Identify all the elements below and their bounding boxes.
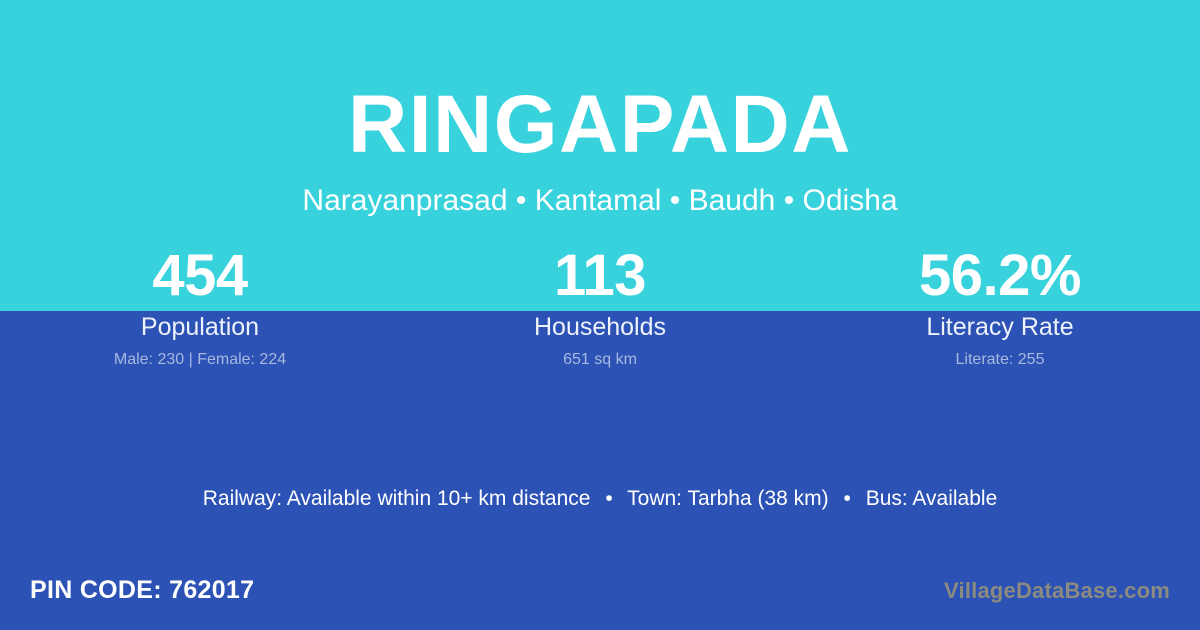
info-town: Town: Tarbha (38 km) bbox=[627, 487, 829, 510]
connectivity-info: Railway: Available within 10+ km distanc… bbox=[0, 485, 1200, 512]
site-brand: VillageDataBase.com bbox=[944, 577, 1170, 605]
breadcrumb: Narayanprasad • Kantamal • Baudh • Odish… bbox=[0, 183, 1200, 219]
info-bus: Bus: Available bbox=[866, 487, 998, 510]
page-title: RINGAPADA bbox=[0, 84, 1200, 166]
stat-value-population: 454 bbox=[0, 246, 400, 307]
stat-card-households: 113 Households 651 sq km bbox=[400, 246, 800, 369]
stat-label-households: Households bbox=[400, 313, 800, 342]
stat-value-households: 113 bbox=[400, 246, 800, 307]
info-separator-icon: • bbox=[835, 487, 860, 510]
info-separator-icon: • bbox=[596, 487, 621, 510]
pin-code: PIN CODE: 762017 bbox=[30, 575, 254, 606]
footer: PIN CODE: 762017 VillageDataBase.com bbox=[0, 575, 1200, 615]
stat-sub-population: Male: 230 | Female: 224 bbox=[0, 351, 400, 369]
stat-sub-households: 651 sq km bbox=[400, 351, 800, 369]
stat-label-literacy-rate: Literacy Rate bbox=[800, 313, 1200, 342]
stat-label-population: Population bbox=[0, 313, 400, 342]
stat-value-literacy-rate: 56.2% bbox=[800, 246, 1200, 307]
info-railway: Railway: Available within 10+ km distanc… bbox=[203, 487, 591, 510]
stat-card-literacy-rate: 56.2% Literacy Rate Literate: 255 bbox=[800, 246, 1200, 369]
stats-row: 454 Population Male: 230 | Female: 224 1… bbox=[0, 246, 1200, 369]
stat-sub-literacy-rate: Literate: 255 bbox=[800, 351, 1200, 369]
stat-card-population: 454 Population Male: 230 | Female: 224 bbox=[0, 246, 400, 369]
